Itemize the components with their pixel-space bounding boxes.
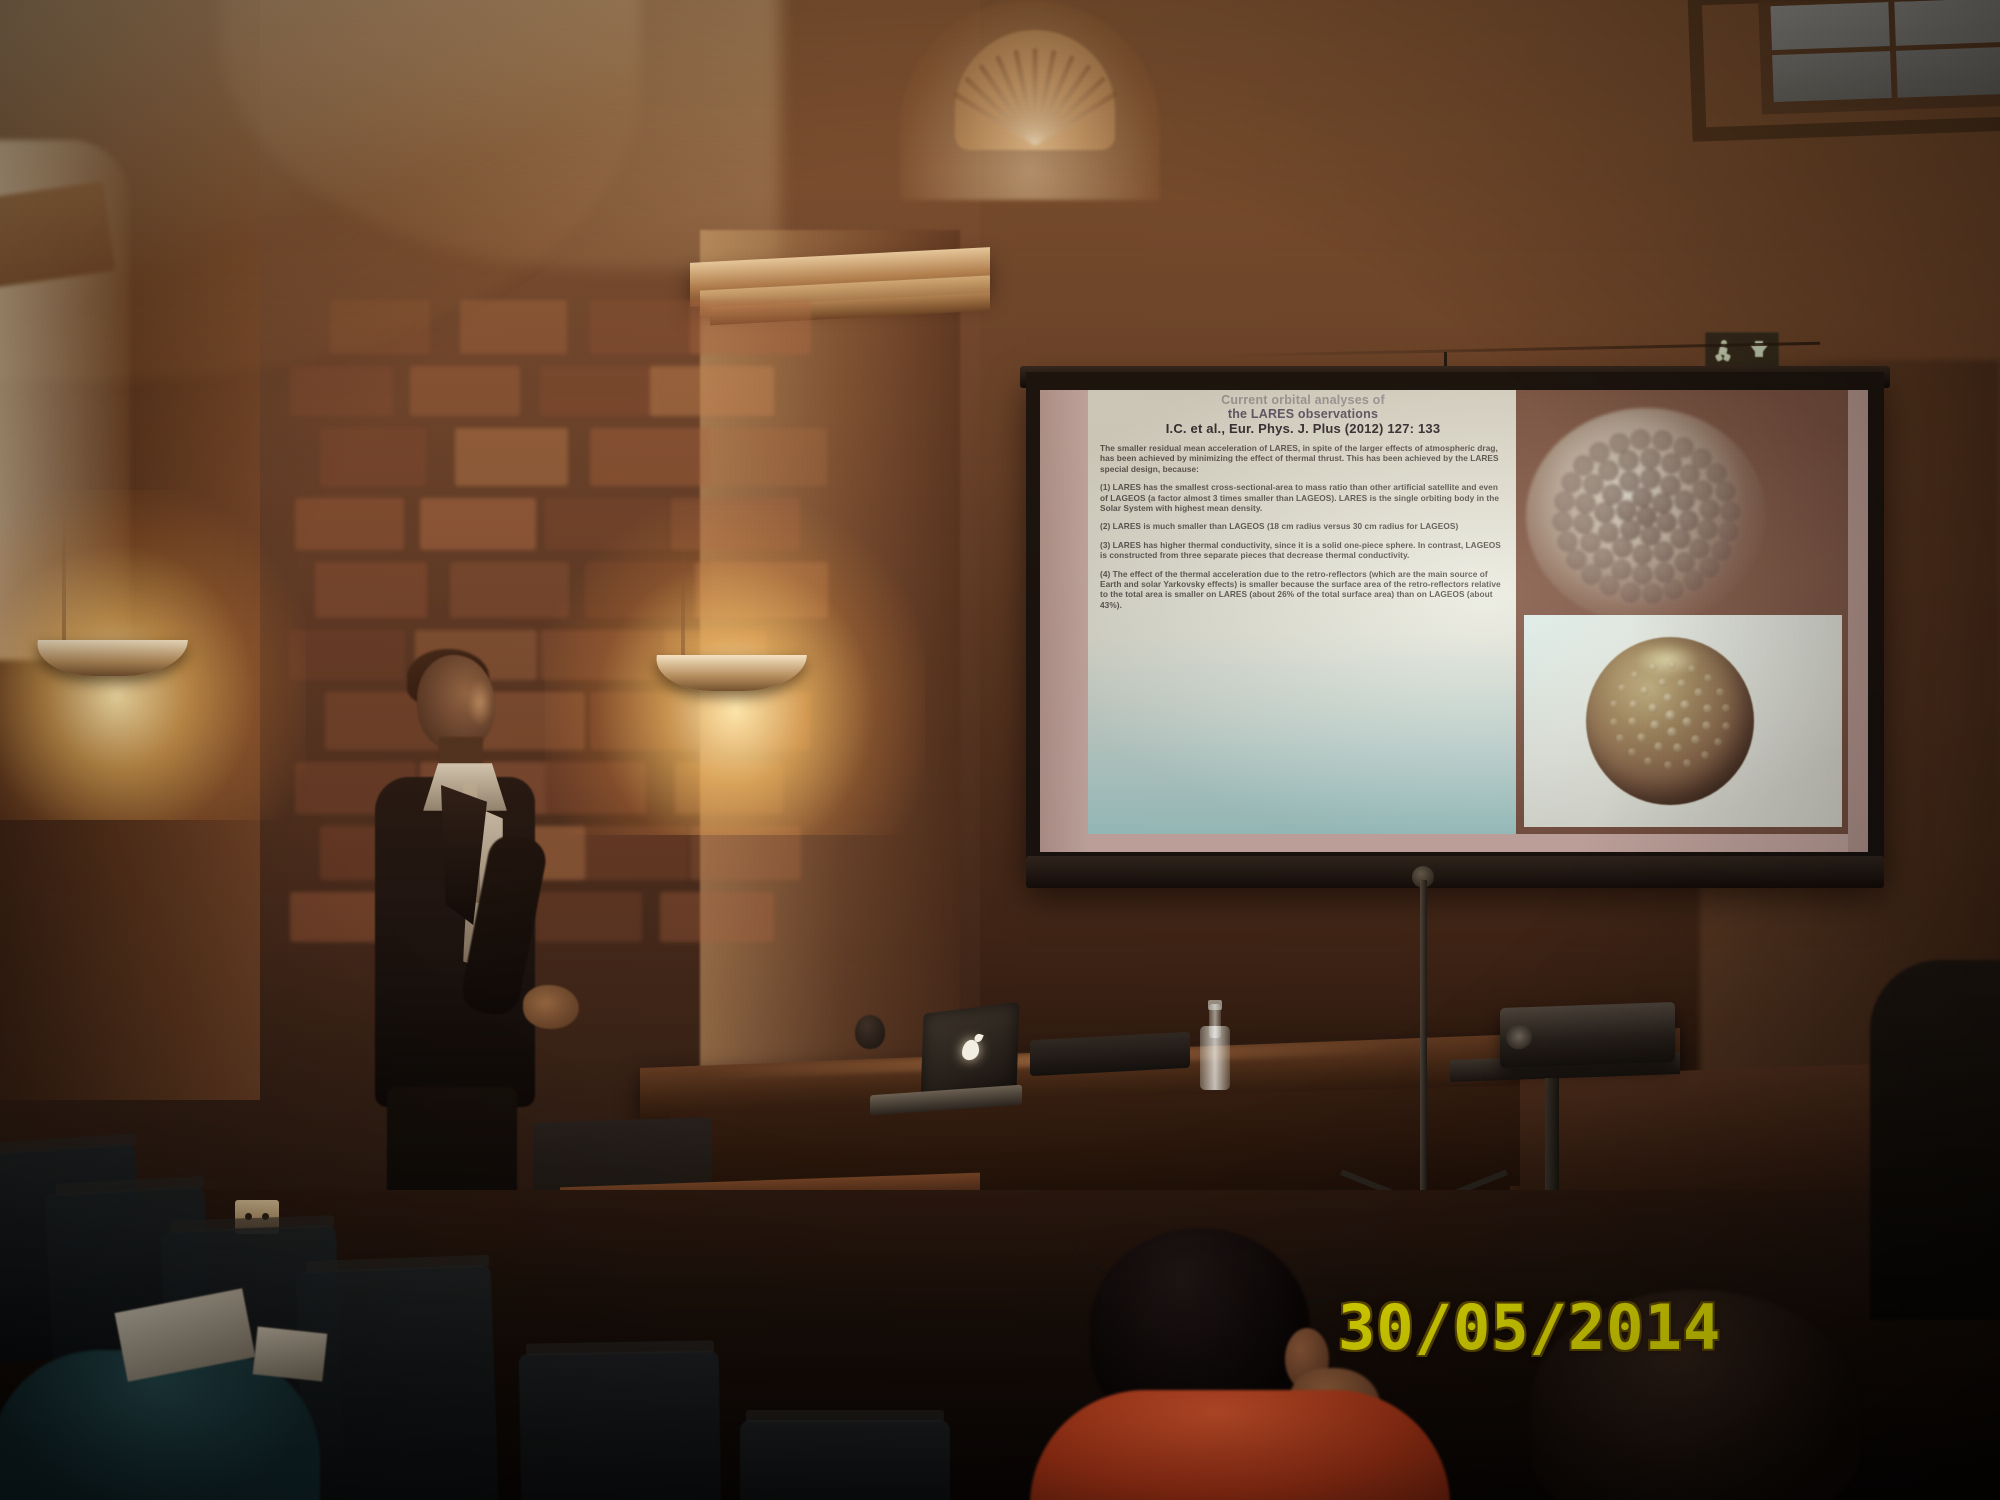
projection-screen-surface: Current orbital analyses of the LARES ob… (1040, 390, 1868, 852)
retroreflector-cavity (1652, 493, 1673, 514)
brick (590, 428, 710, 486)
slide-title-block: Current orbital analyses of the LARES ob… (1100, 393, 1506, 436)
brick (410, 366, 520, 416)
brick (585, 562, 711, 618)
lares-sphere-image (1586, 637, 1754, 805)
brick (590, 692, 722, 750)
brick (700, 428, 827, 486)
slide-image-column (1516, 390, 1848, 834)
retroreflector-cavity (1652, 430, 1673, 451)
retroreflector-cavity (1678, 510, 1699, 531)
sphere-cavity (1664, 761, 1672, 769)
sphere-cavity (1618, 684, 1626, 692)
chair (519, 1350, 722, 1500)
window-mullion-horizontal (1772, 42, 2000, 55)
sconce-stem-right (681, 525, 685, 655)
brick (320, 428, 426, 486)
brick (585, 826, 689, 880)
sphere-cavity (1688, 665, 1696, 673)
retroreflector-cavity (1683, 570, 1704, 591)
chair (740, 1420, 950, 1500)
sconce-stem-left (62, 510, 66, 640)
sphere-cavity (1683, 759, 1691, 767)
retroreflector-cavity (1581, 564, 1602, 585)
sphere-cavity (1665, 710, 1676, 721)
sphere-cavity (1703, 704, 1712, 713)
sphere-cavity (1650, 720, 1660, 730)
audience-person-far-right (1870, 960, 2000, 1320)
retroreflector-cavity (1632, 564, 1653, 585)
retroreflector-cavity (1640, 468, 1661, 489)
retroreflector-cavity (1589, 442, 1610, 463)
brick (290, 366, 393, 416)
retroreflector-cavity (1557, 531, 1578, 552)
water-bottle (1200, 1000, 1230, 1090)
retroreflector-cavity (1699, 499, 1720, 520)
sphere-cavity (1629, 700, 1638, 709)
brick (590, 300, 704, 354)
screen-unlit-margin-left (1040, 390, 1088, 852)
brick (450, 562, 569, 618)
sphere-cavity (1628, 717, 1637, 726)
brick (705, 692, 810, 750)
wall-niche-cap (0, 181, 116, 288)
retroreflector-cavity (1573, 513, 1594, 534)
sphere-cavity (1610, 700, 1618, 708)
apple-logo-icon (962, 1039, 980, 1061)
brick (295, 498, 404, 550)
brick (455, 428, 568, 486)
chair-frame (746, 1410, 944, 1422)
retroreflector-cavity (1599, 575, 1620, 596)
brick (545, 498, 668, 550)
sphere-cavity (1663, 693, 1673, 703)
sphere-cavity (1667, 727, 1677, 737)
presenter-face-highlight (467, 679, 493, 727)
screen-unlit-margin-right (1848, 390, 1868, 852)
camera-date-stamp: 30/05/2014 (1338, 1291, 1721, 1364)
sphere-cavity (1691, 735, 1700, 744)
brick (650, 366, 774, 416)
retroreflector-cavity (1552, 511, 1573, 532)
satellite-photo-inset (1524, 615, 1842, 827)
brick (420, 498, 536, 550)
brick (460, 300, 567, 354)
sphere-cavity (1644, 757, 1652, 765)
slide-paragraph-4: (4) The effect of the thermal accelerati… (1100, 569, 1506, 611)
emergency-exit-sign (1705, 332, 1779, 370)
sphere-cavity (1637, 733, 1646, 742)
retroreflector-cavity (1689, 538, 1710, 559)
brick (660, 892, 774, 942)
sphere-cavity (1628, 748, 1636, 756)
screen-bottom-bar (1026, 856, 1884, 888)
sphere-cavity (1640, 686, 1649, 695)
retroreflector-cavity (1653, 541, 1674, 562)
window (1758, 0, 2000, 115)
sphere-cavity (1668, 661, 1676, 669)
bottle-body (1200, 1026, 1230, 1090)
sphere-cavity (1677, 679, 1686, 688)
retroreflector-cavity (1663, 579, 1684, 600)
slide-paragraph-3: (3) LARES has higher thermal conductivit… (1100, 540, 1506, 561)
brick (695, 562, 828, 618)
slide-citation: I.C. et al., Eur. Phys. J. Plus (2012) 1… (1100, 422, 1506, 436)
retroreflector-cavity (1609, 433, 1630, 454)
sphere-cavity (1701, 751, 1709, 759)
presentation-photo-scene: Current orbital analyses of the LARES ob… (0, 0, 2000, 1500)
retroreflector-cavity (1561, 472, 1582, 493)
brick (330, 300, 430, 354)
retroreflector-cavity (1632, 544, 1653, 565)
retroreflector-cavity (1619, 471, 1640, 492)
retroreflector-cavity (1620, 582, 1641, 603)
sphere-cavity (1610, 718, 1618, 726)
slide-paragraph-intro: The smaller residual mean acceleration o… (1100, 443, 1506, 474)
sphere-cavity (1682, 717, 1692, 727)
retroreflector-cavity (1642, 583, 1663, 604)
chair (296, 1265, 500, 1500)
sphere-cavity (1648, 703, 1658, 713)
sphere-cavity (1714, 738, 1722, 746)
sphere-cavity (1716, 688, 1724, 696)
retroreflector-cavity (1594, 502, 1615, 523)
slide-paragraph-1: (1) LARES has the smallest cross-section… (1100, 482, 1506, 513)
sphere-cavity (1680, 700, 1690, 710)
sphere-cavity (1694, 688, 1703, 697)
retroreflector-cavity (1692, 480, 1713, 501)
brick (315, 562, 427, 618)
presenter-hand (523, 985, 579, 1029)
sphere-cavity (1654, 742, 1663, 751)
sphere-cavity (1658, 678, 1667, 687)
retroreflector-cavity (1575, 493, 1596, 514)
video-projector (1500, 1002, 1675, 1068)
retroreflector-cavity (1630, 429, 1651, 450)
handout-paper-secondary (253, 1326, 328, 1381)
brick (675, 762, 783, 814)
slide-text-column: Current orbital analyses of the LARES ob… (1088, 390, 1516, 834)
sphere-cavity (1631, 671, 1639, 679)
sphere-cavity (1702, 721, 1711, 730)
audience-person-orange-shirt (1030, 1390, 1450, 1500)
retroreflector-cavity (1670, 528, 1691, 549)
retroreflector-cavity (1554, 491, 1575, 512)
retroreflector-cavity (1720, 501, 1741, 522)
sphere-cavity (1673, 743, 1682, 752)
sphere-cavity (1722, 722, 1730, 730)
retroreflector-cavity (1598, 522, 1619, 543)
brick (540, 366, 657, 416)
brick (690, 826, 801, 880)
slide-title-line2: the LARES observations (1100, 407, 1506, 421)
brick (690, 300, 811, 354)
projected-slide: Current orbital analyses of the LARES ob… (1088, 390, 1848, 834)
satellite-retroreflector-image (1526, 408, 1766, 624)
retroreflector-cavity (1718, 521, 1739, 542)
sphere-cavity (1722, 704, 1730, 712)
retroreflector-cavity (1715, 481, 1736, 502)
retroreflector-cavity (1580, 532, 1601, 553)
projector-lens (1506, 1023, 1532, 1050)
down-arrow-icon (1750, 345, 1768, 357)
sphere-cavity (1704, 674, 1712, 682)
brick (670, 498, 800, 550)
retroreflector-cavity (1640, 448, 1661, 469)
slide-paragraph-2: (2) LARES is much smaller than LAGEOS (1… (1100, 521, 1506, 531)
sphere-cavity (1649, 663, 1657, 671)
computer-mouse (855, 1015, 885, 1049)
slide-title-line1: Current orbital analyses of (1100, 393, 1506, 407)
microphone-stand (1420, 880, 1427, 1210)
slide-body-text: The smaller residual mean acceleration o… (1100, 443, 1506, 610)
sphere-cavity (1616, 734, 1624, 742)
